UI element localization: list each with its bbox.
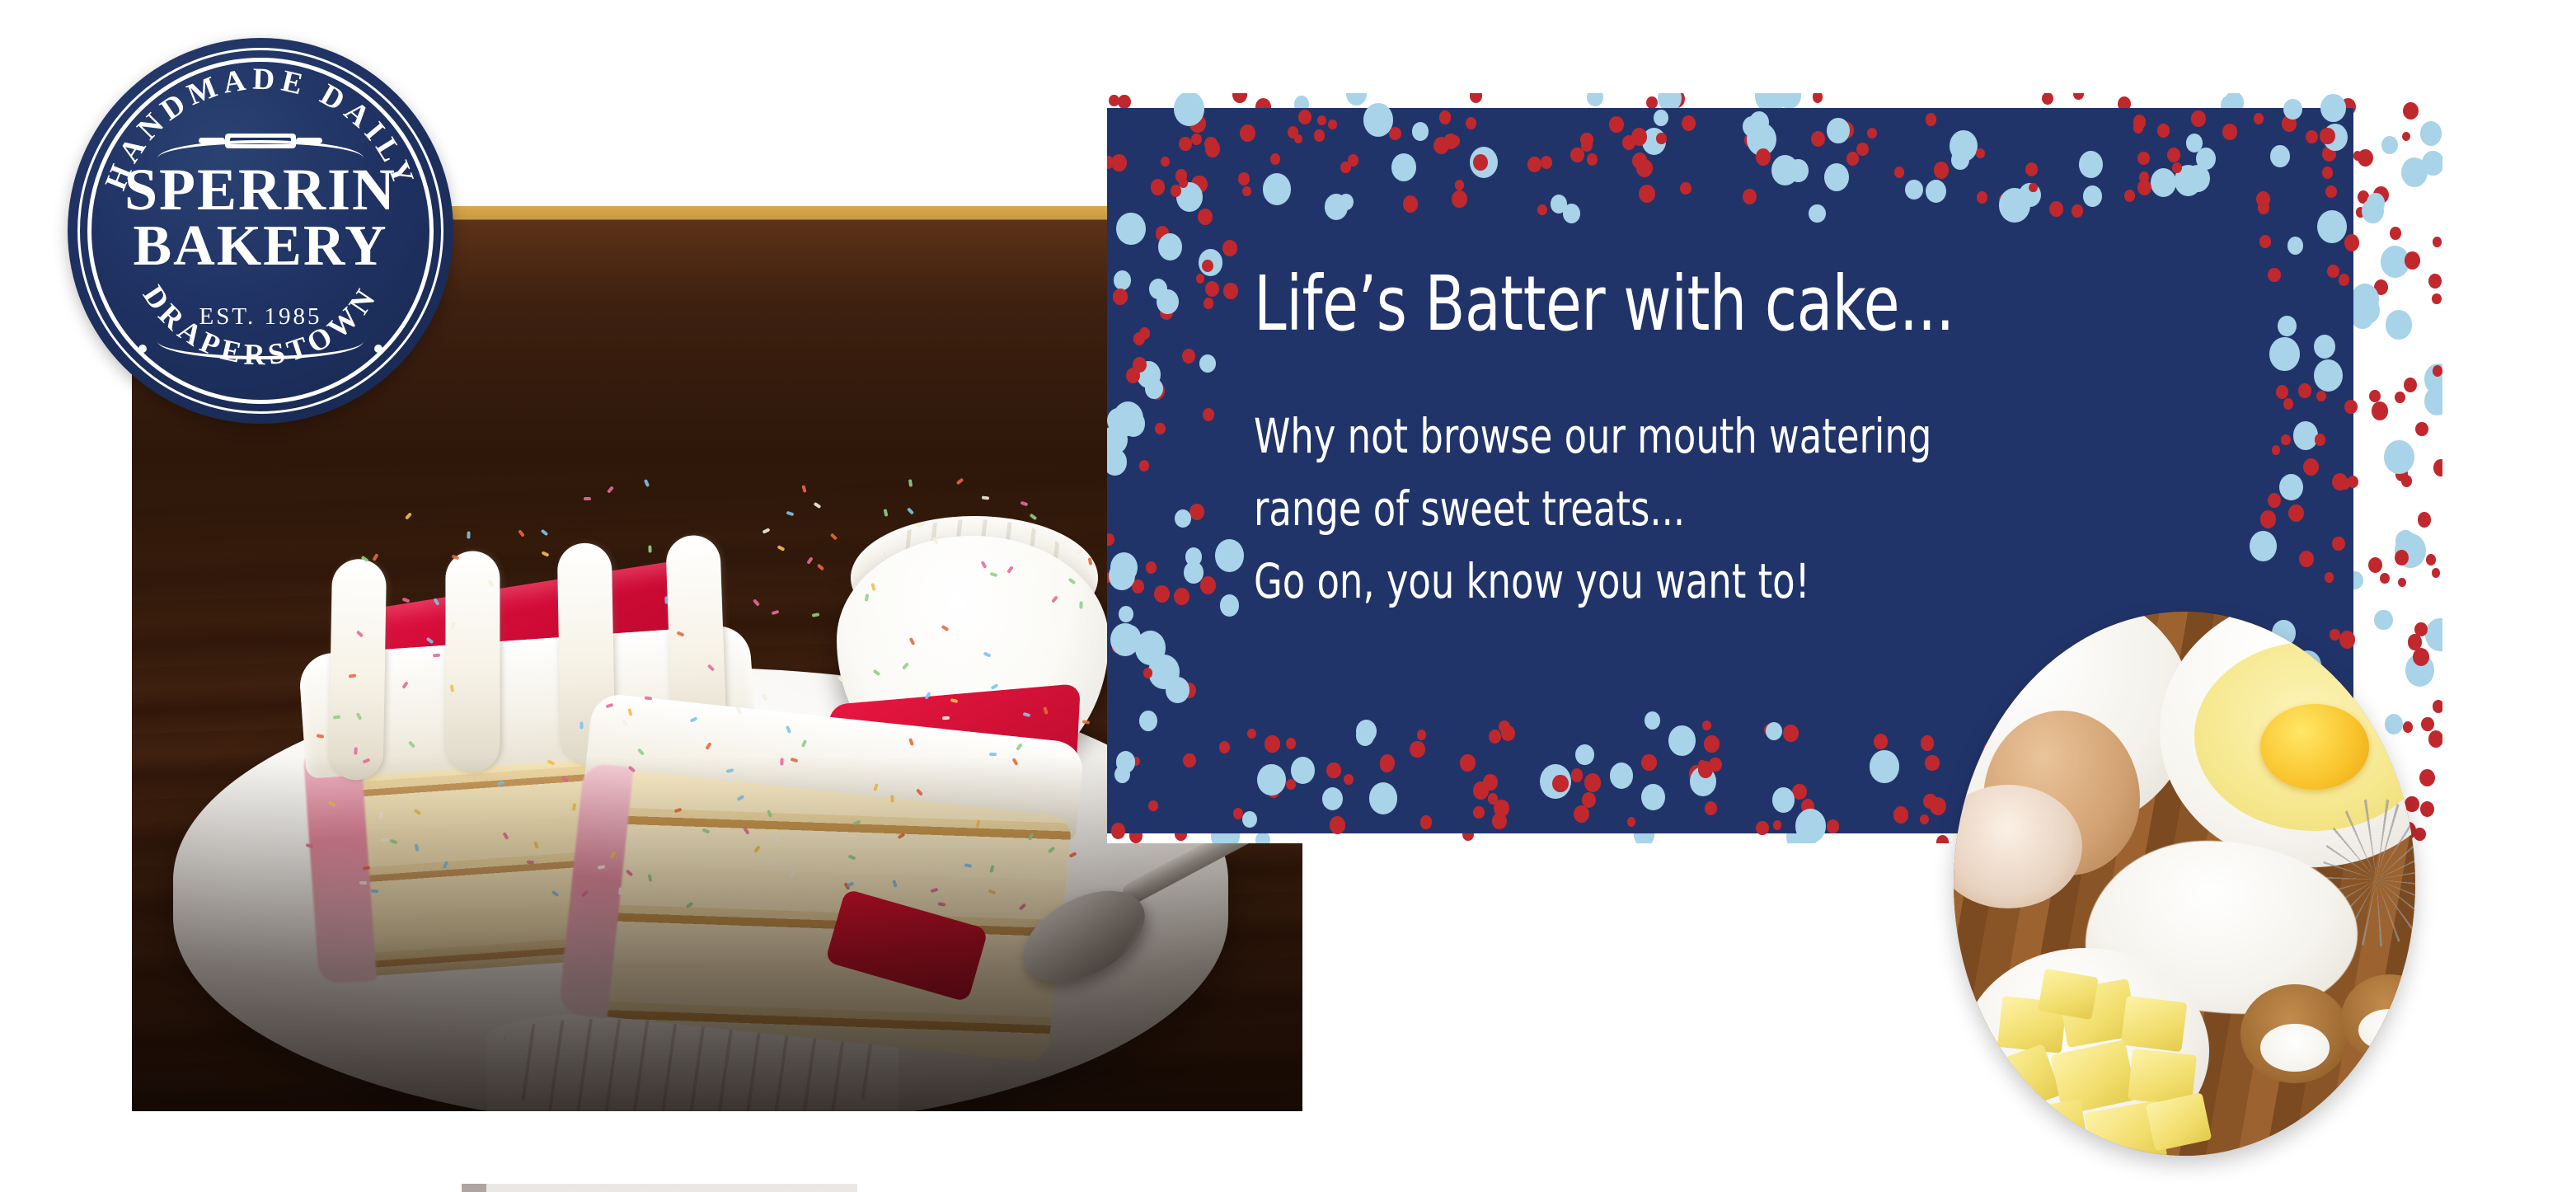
promo-copy: Life’s Batter with cake... Why not brows… [1254, 266, 2284, 617]
promo-headline: Life’s Batter with cake... [1254, 266, 2140, 342]
page-bottom-partial-element [462, 1184, 857, 1192]
measuring-spoon-salt [2241, 984, 2349, 1083]
confetti-dot [2420, 801, 2434, 817]
confetti-dot [2369, 390, 2381, 403]
butter-cube [2038, 969, 2099, 1021]
confetti-dot [1813, 93, 1823, 103]
confetti-dot [2401, 475, 2412, 487]
logo-dot-left [138, 345, 147, 353]
logo-name-line1: SPERRIN [68, 162, 453, 218]
confetti-dot [2402, 132, 2410, 142]
confetti-dot [2420, 121, 2442, 146]
logo-dot-right [374, 345, 382, 353]
cream-pipe [328, 559, 387, 781]
confetti-dot [2433, 459, 2442, 476]
confetti-dot [2414, 828, 2426, 841]
logo-name-line2: BAKERY [68, 218, 453, 274]
sperrin-bakery-logo[interactable]: HANDMADE DAILY DRAPERSTOWN SPERRIN BAKER… [68, 38, 453, 424]
confetti-dot [2419, 769, 2435, 787]
confetti-dot [2390, 227, 2401, 240]
promo-body-line-3: Go on, you know you want to! [1254, 545, 2140, 617]
confetti-dot [2351, 284, 2379, 315]
confetti-dot [2042, 93, 2053, 105]
logo-wordmark: SPERRIN BAKERY [68, 162, 453, 274]
confetti-dot [2398, 578, 2406, 588]
confetti-dot [2415, 422, 2428, 437]
confetti-dot [1470, 93, 1482, 103]
confetti-dot [2425, 618, 2442, 651]
confetti-dot [2432, 293, 2441, 304]
confetti-dot [2368, 557, 2382, 573]
confetti-dot [2421, 717, 2433, 731]
butter-cube [2121, 996, 2188, 1053]
promo-body: Why not browse our mouth watering range … [1254, 400, 2140, 617]
confetti-dot [2405, 251, 2420, 269]
egg-yolk [2260, 704, 2369, 790]
confetti-dot [2432, 568, 2440, 577]
confetti-dot [1109, 95, 1119, 106]
confetti-dot [2386, 310, 2411, 339]
confetti-dot [1936, 835, 1949, 843]
confetti-dot [2372, 401, 2388, 420]
confetti-dot [2428, 274, 2442, 289]
confetti-dot [2380, 573, 2390, 584]
cream-pipe [445, 551, 500, 772]
confetti-dot [2403, 102, 2419, 120]
confetti-dot [2433, 700, 2442, 713]
confetti-dot [2395, 392, 2405, 403]
confetti-dot [2358, 149, 2373, 167]
confetti-dot [1232, 93, 1247, 103]
confetti-dot [1587, 93, 1603, 106]
page-canvas: HANDMADE DAILY DRAPERSTOWN SPERRIN BAKER… [0, 0, 2576, 1192]
confetti-dot [2418, 512, 2431, 527]
confetti-dot [2422, 151, 2442, 176]
confetti-dot [2433, 365, 2442, 377]
confetti-dot [1346, 93, 1367, 106]
confetti-dot [2428, 730, 2442, 748]
logo-arc-divider-bottom [157, 323, 364, 359]
confetti-dot [2433, 237, 2442, 247]
confetti-dot [2073, 93, 2083, 100]
promo-body-line-1: Why not browse our mouth watering [1254, 400, 2140, 472]
confetti-dot [2381, 136, 2398, 154]
confetti-dot [2424, 387, 2442, 415]
confetti-dot [2414, 622, 2427, 636]
promo-body-line-2: range of sweet treats... [1254, 472, 2140, 545]
confetti-dot [1255, 832, 1270, 843]
confetti-dot [2404, 378, 2417, 392]
baking-ingredients-photo [1954, 612, 2415, 1156]
confetti-dot [2426, 554, 2437, 565]
confetti-dot [1118, 95, 1131, 110]
confetti-dot [2384, 440, 2414, 475]
